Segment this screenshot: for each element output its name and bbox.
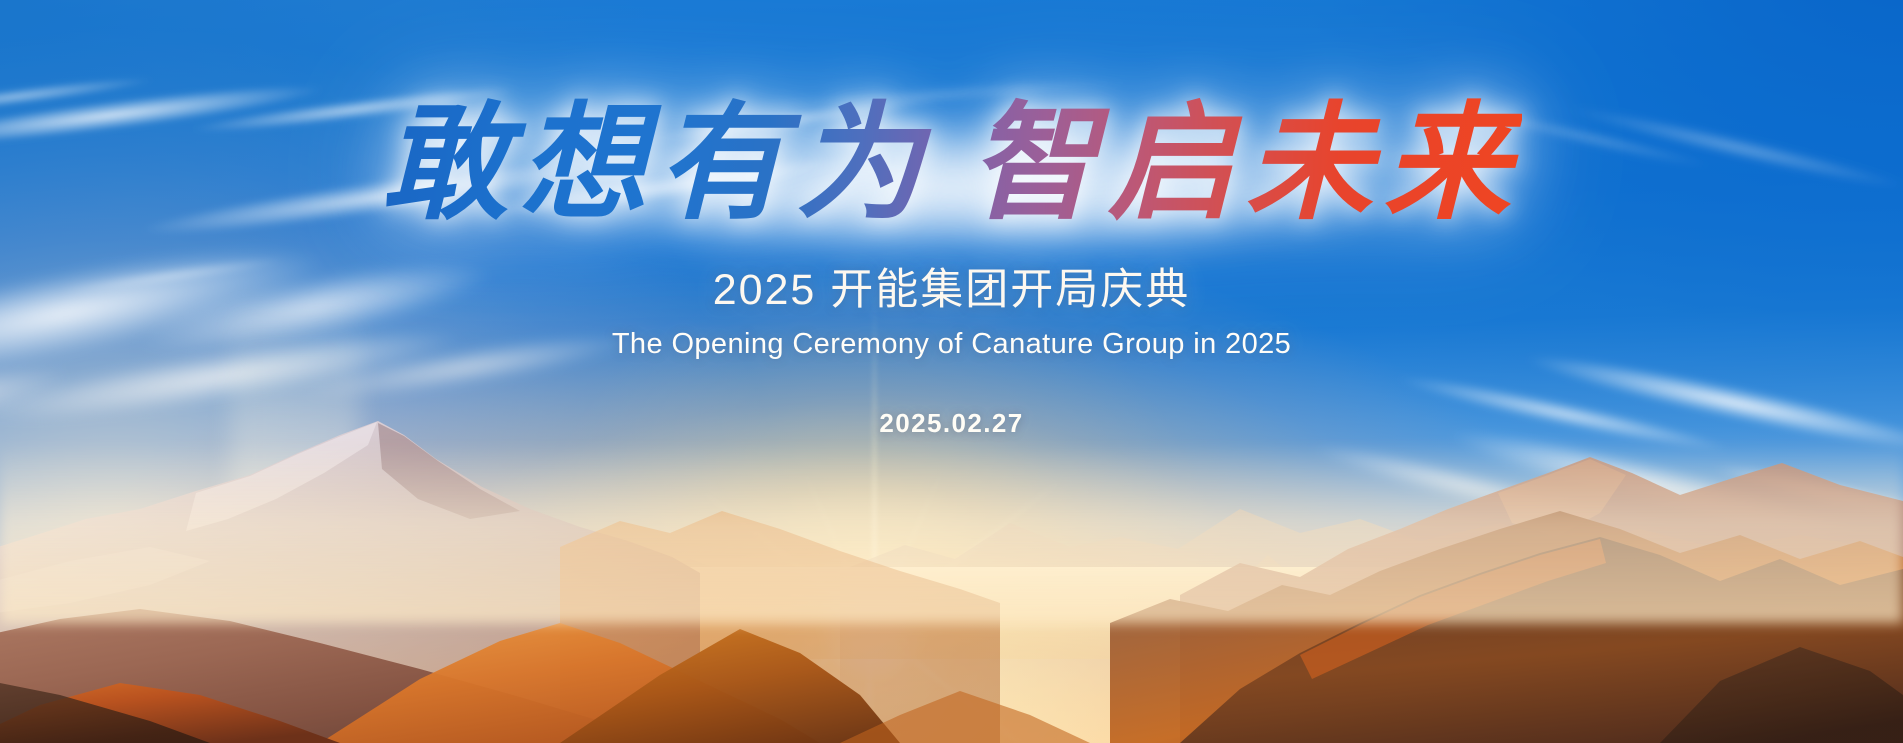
ceremony-banner: 敢想有为智启未来 2025 开能集团开局庆典 The Opening Cerem… <box>0 0 1903 743</box>
mountain-landscape <box>0 323 1903 743</box>
